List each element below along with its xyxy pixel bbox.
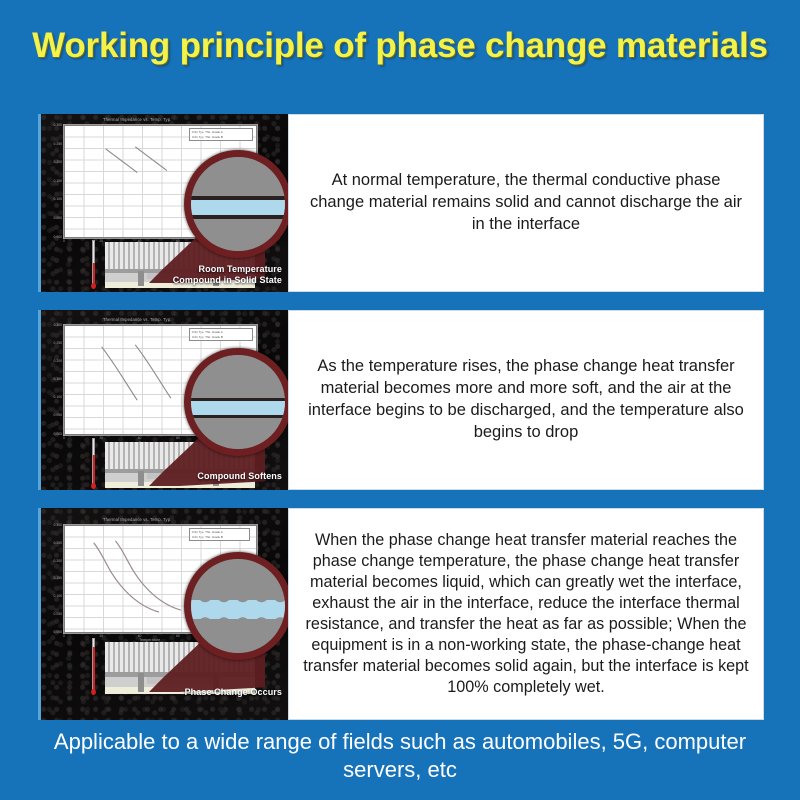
y-tick: 0.000 (54, 631, 63, 634)
magnifier-lens (184, 552, 288, 660)
interface-cross-section-1 (191, 157, 285, 251)
figure-panel-3: Thermal Impedance vs. Temp. Typ. 0.300 0… (38, 508, 288, 720)
interface-cross-section-3 (191, 559, 285, 653)
y-tick: 0.300 (54, 124, 63, 127)
y-tick: 0.300 (54, 524, 63, 527)
chart-y-ticks-2: 0.300 0.250 0.200 0.150 0.100 0.050 0.00… (43, 324, 62, 436)
thermometer-icon-1 (91, 240, 96, 288)
y-tick: 0.250 (54, 342, 63, 345)
footer-text: Applicable to a wide range of fields suc… (30, 728, 770, 784)
panel-text-2: As the temperature rises, the phase chan… (303, 356, 749, 444)
x-tick: 20 (100, 635, 104, 638)
y-tick: 0.050 (54, 414, 63, 417)
chart-y-ticks-3: 0.300 0.250 0.200 0.150 0.100 0.050 0.00… (43, 524, 62, 634)
text-card-1: At normal temperature, the thermal condu… (288, 114, 764, 292)
y-tick: 0.000 (54, 433, 63, 436)
y-tick: 0.250 (54, 542, 63, 545)
thermometer-icon-3 (91, 638, 96, 694)
y-tick: 0.200 (54, 161, 63, 164)
magnifier-lens (184, 348, 288, 456)
y-tick: 0.200 (54, 360, 63, 363)
y-tick: 0.100 (54, 396, 63, 399)
chart-title-3: Thermal Impedance vs. Temp. Typ. (103, 518, 171, 522)
chart-title-2: Thermal Impedance vs. Temp. Typ. (103, 318, 171, 322)
y-tick: 0.150 (54, 378, 63, 381)
page-title: Working principle of phase change materi… (0, 26, 800, 66)
y-tick: 0.250 (54, 143, 63, 146)
x-tick: 40 (138, 437, 142, 440)
magnifier-3 (149, 544, 288, 696)
interface-cross-section-2 (191, 355, 285, 449)
y-tick: 0.050 (54, 217, 63, 220)
text-card-3: When the phase change heat transfer mate… (288, 508, 764, 720)
x-tick: 0 (63, 437, 65, 440)
figure-caption-1: Room Temperature Compound in Solid State (173, 264, 282, 287)
magnifier-lens (184, 150, 288, 258)
y-tick: 0.150 (54, 180, 63, 183)
magnifier-2 (149, 340, 288, 490)
panel-text-1: At normal temperature, the thermal condu… (303, 170, 749, 236)
x-tick: 0 (63, 635, 65, 638)
legend-entry: 0.01 Typ. Thk. Grade B (192, 135, 250, 140)
y-tick: 0.300 (54, 324, 63, 327)
legend-entry: 0.01 Typ. Thk. Grade B (192, 535, 247, 540)
chart-legend-1: 0.01 Typ. Thk. Grade A 0.01 Typ. Thk. Gr… (189, 128, 253, 141)
chart-y-ticks-1: 0.300 0.250 0.200 0.150 0.100 0.050 0.00… (43, 124, 62, 239)
y-tick: 0.150 (54, 577, 63, 580)
chart-title-1: Thermal Impedance vs. Temp. Typ. (103, 118, 171, 122)
x-tick: 0 (63, 240, 65, 243)
figure-panel-1: Thermal Impedance vs. Temp. Typ. 0.300 0… (38, 114, 288, 292)
panel-row-3: Thermal Impedance vs. Temp. Typ. 0.300 0… (38, 508, 764, 720)
figure-caption-2: Compound Softens (197, 471, 282, 482)
y-tick: 0.000 (54, 236, 63, 239)
chart-legend-3: 0.01 Typ. Thk. Grade A 0.01 Typ. Thk. Gr… (189, 528, 250, 541)
text-card-2: As the temperature rises, the phase chan… (288, 310, 764, 490)
legend-entry: 0.01 Typ. Thk. Grade B (192, 335, 250, 340)
y-tick: 0.050 (54, 613, 63, 616)
thermometer-icon-2 (91, 438, 96, 488)
panel-row-1: Thermal Impedance vs. Temp. Typ. 0.300 0… (38, 114, 764, 292)
panel-row-2: Thermal Impedance vs. Temp. Typ. 0.300 0… (38, 310, 764, 490)
panel-text-3: When the phase change heat transfer mate… (303, 530, 749, 699)
x-tick: 20 (100, 437, 104, 440)
figure-caption-3: Phase Change Occurs (185, 687, 282, 698)
figure-panel-2: Thermal Impedance vs. Temp. Typ. 0.300 0… (38, 310, 288, 490)
y-tick: 0.100 (54, 198, 63, 201)
y-tick: 0.100 (54, 595, 63, 598)
x-tick: 20 (100, 240, 104, 243)
y-tick: 0.200 (54, 560, 63, 563)
